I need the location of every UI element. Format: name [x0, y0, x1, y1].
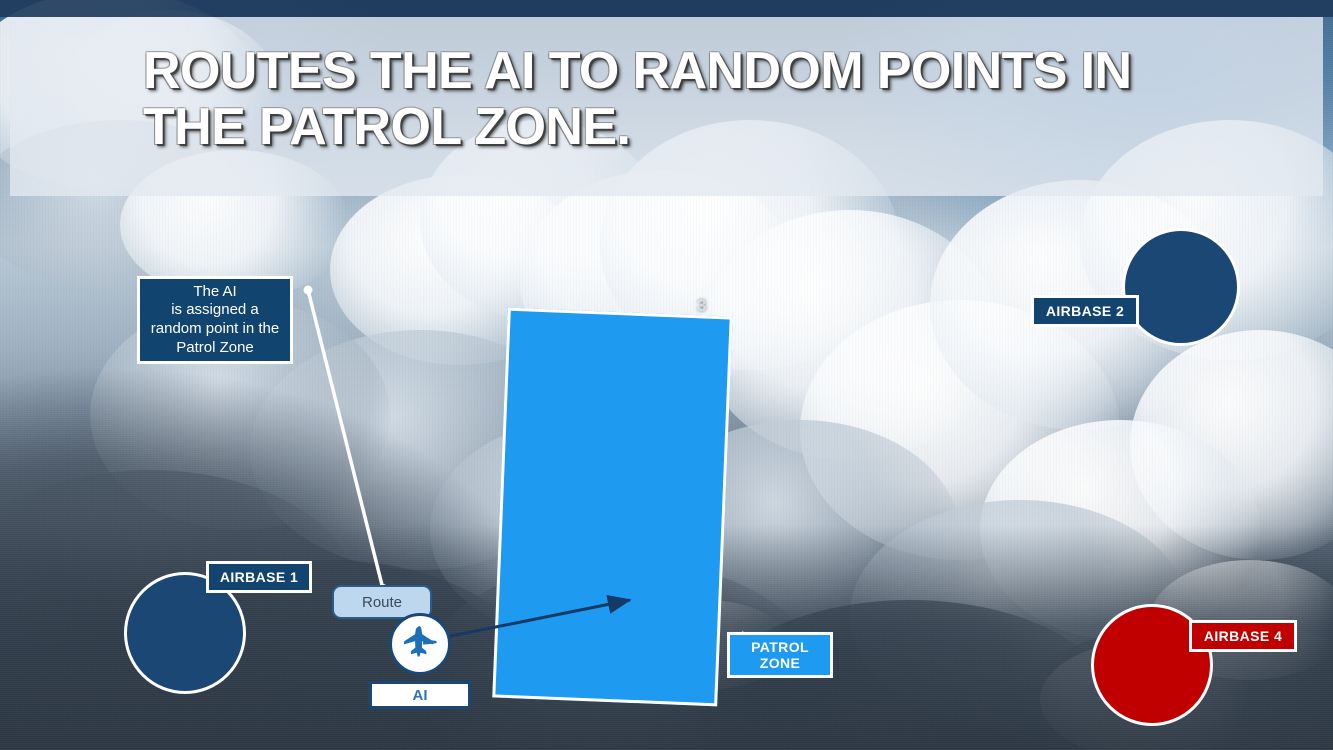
ai-label-text: AI [413, 687, 428, 704]
route-label: Route [362, 594, 402, 611]
airbase-2-label-text: AIRBASE 2 [1046, 303, 1124, 319]
connector-overlay [0, 0, 1333, 750]
slide-canvas: 3 ROUTES THE AI TO RANDOM POINTS IN THE … [0, 0, 1333, 750]
route-arrow [446, 600, 630, 637]
patrol-zone-label[interactable]: PATROL ZONE [727, 632, 833, 678]
ai-jet-badge[interactable] [389, 613, 451, 675]
airbase-2-label[interactable]: AIRBASE 2 [1031, 295, 1139, 327]
ai-label[interactable]: AI [369, 681, 471, 709]
callout-box: The AI is assigned a random point in the… [137, 276, 293, 364]
airbase-1-label-text: AIRBASE 1 [220, 569, 298, 585]
callout-line-4: Patrol Zone [176, 339, 254, 358]
callout-leader-line [308, 290, 383, 589]
callout-line-3: random point in the [151, 320, 279, 339]
airbase-1-label[interactable]: AIRBASE 1 [206, 561, 312, 593]
patrol-zone-label-line-1: PATROL [751, 639, 809, 655]
callout-line-2: is assigned a [171, 301, 259, 320]
airbase-4-label[interactable]: AIRBASE 4 [1189, 620, 1297, 652]
fighter-jet-icon [398, 622, 442, 666]
callout-line-1: The AI [193, 283, 236, 302]
callout-leader-start-dot [304, 286, 313, 295]
patrol-zone-label-line-2: ZONE [760, 655, 801, 671]
airbase-4-label-text: AIRBASE 4 [1204, 628, 1282, 644]
